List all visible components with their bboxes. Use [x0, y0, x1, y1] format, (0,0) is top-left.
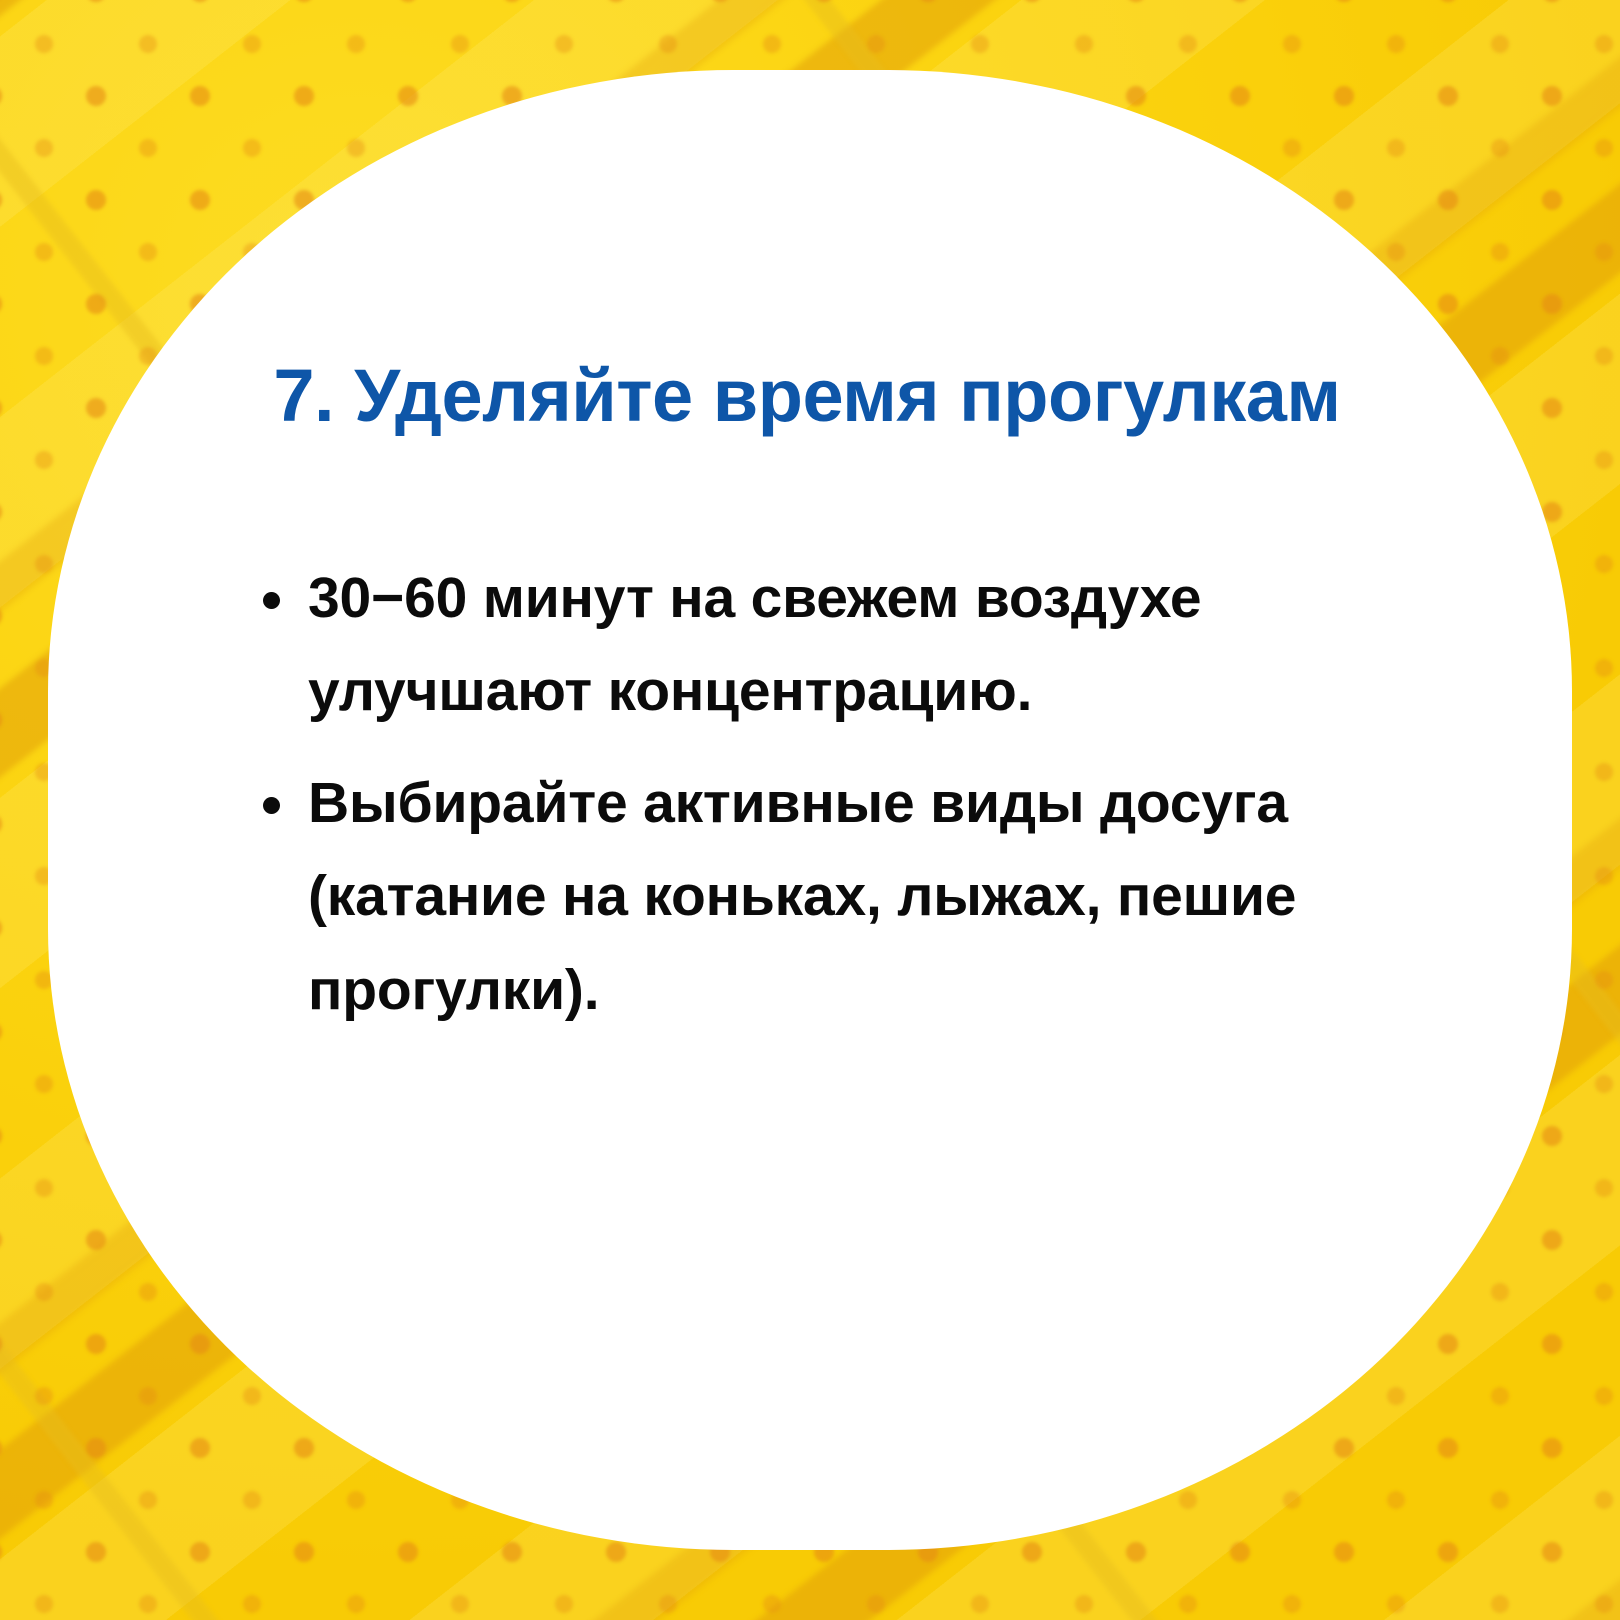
list-item: Выбирайте активные виды досуга (катание …: [236, 757, 1456, 1037]
content-card: 7. Уделяйте время прогулкам 30−60 минут …: [48, 70, 1572, 1550]
list-item: 30−60 минут на свежем воздухе улучшают к…: [236, 552, 1456, 739]
content-card-inner: 7. Уделяйте время прогулкам 30−60 минут …: [48, 70, 1572, 1550]
bullet-dot-icon: [263, 592, 280, 609]
slide-canvas: 7. Уделяйте время прогулкам 30−60 минут …: [0, 0, 1620, 1620]
slide-title: 7. Уделяйте время прогулкам: [262, 357, 1352, 435]
list-item-text: Выбирайте активные виды досуга (катание …: [308, 757, 1456, 1037]
bullet-list: 30−60 минут на свежем воздухе улучшают к…: [236, 552, 1456, 1037]
bullet-dot-icon: [263, 797, 280, 814]
list-item-text: 30−60 минут на свежем воздухе улучшают к…: [308, 552, 1456, 739]
